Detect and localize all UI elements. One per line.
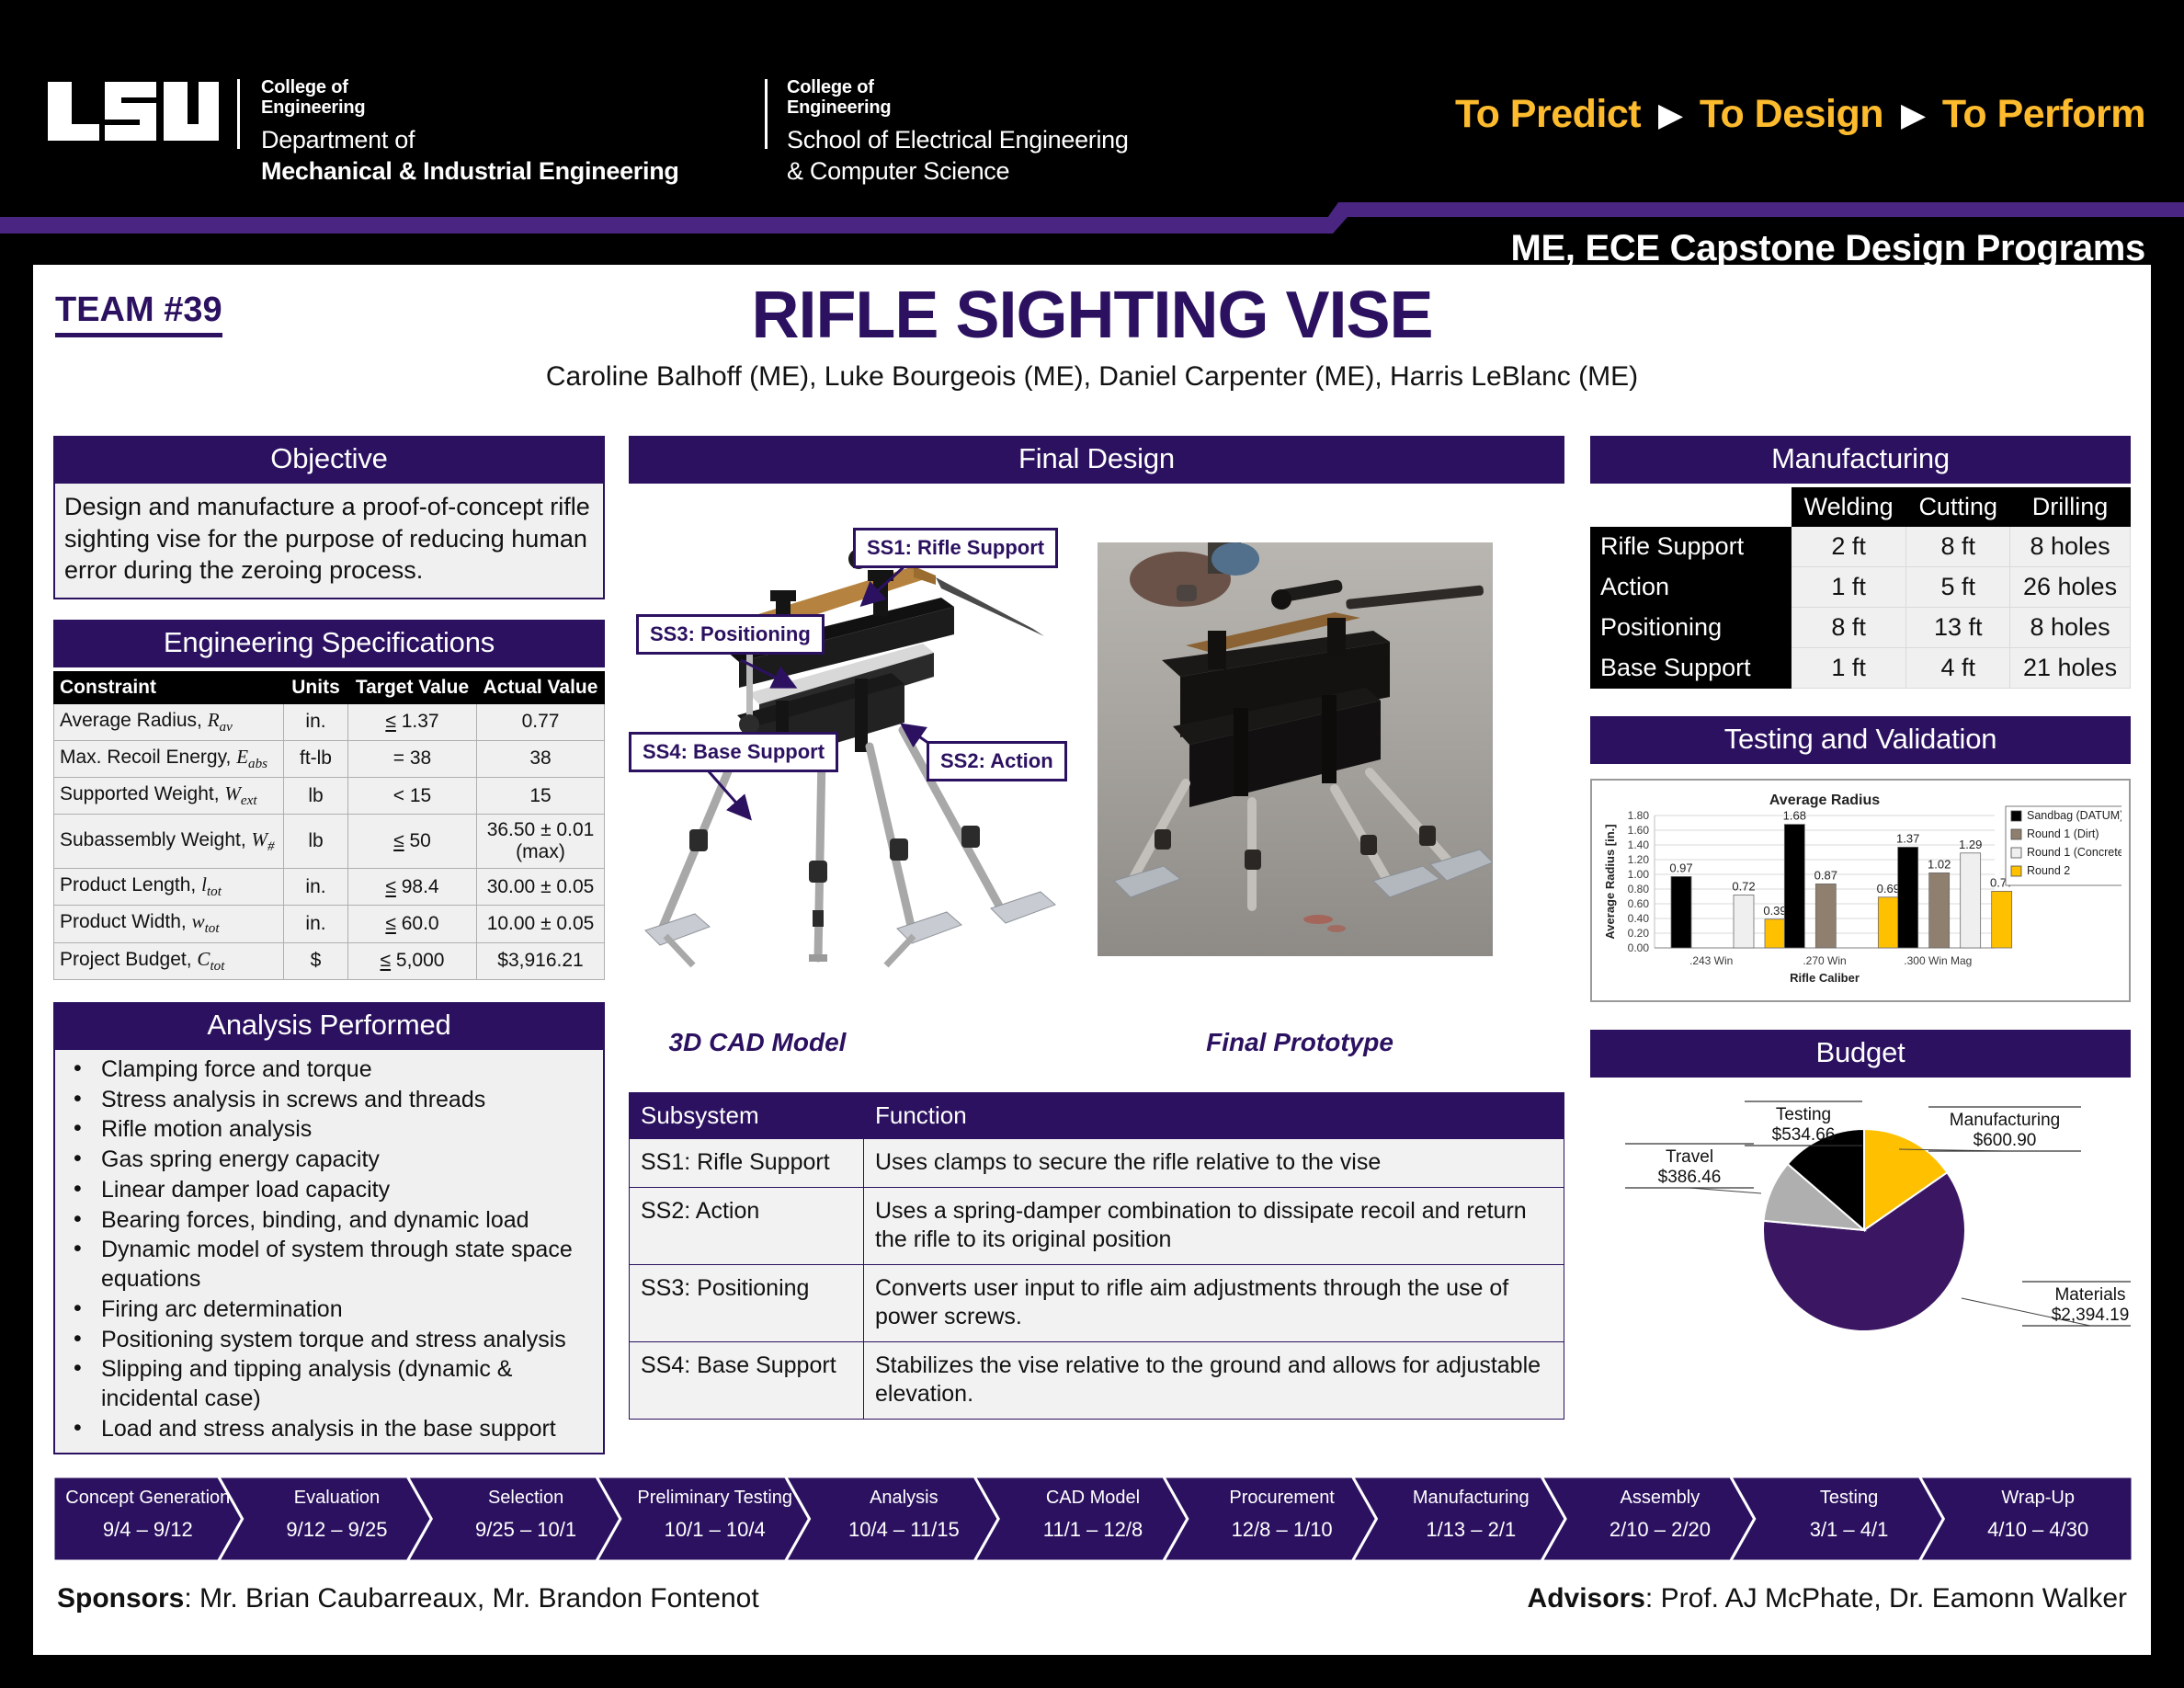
table-row: SS4: Base SupportStabilizes the vise rel… <box>630 1341 1564 1419</box>
spec-units: in. <box>284 906 348 942</box>
manufacturing-cutting: 5 ft <box>1906 567 2010 608</box>
svg-text:Testing: Testing <box>1776 1105 1831 1124</box>
budget-heading: Budget <box>1590 1030 2131 1078</box>
table-row: Rifle Support2 ft8 ft8 holes <box>1591 527 2131 567</box>
spec-actual: 10.00 ± 0.05 <box>477 906 605 942</box>
subsystem-name: SS4: Base Support <box>630 1341 864 1419</box>
program-line: ME, ECE Capstone Design Programs <box>1510 228 2145 269</box>
subsystem-function: Stabilizes the vise relative to the grou… <box>864 1341 1564 1419</box>
spec-units: $ <box>284 942 348 979</box>
average-radius-chart: Average Radius0.000.200.400.600.801.001.… <box>1590 779 2131 1002</box>
poster-header: College of Engineering Department of Mec… <box>0 26 2184 222</box>
timeline-step-dates: 9/12 – 9/25 <box>243 1519 432 1541</box>
timeline-step: Concept Generation9/4 – 9/12 <box>53 1488 243 1541</box>
author-list: Caroline Balhoff (ME), Luke Bourgeois (M… <box>33 361 2151 393</box>
col-constraint: Constraint <box>54 671 284 703</box>
list-item: Dynamic model of system through state sp… <box>61 1236 596 1295</box>
spec-units: in. <box>284 703 348 740</box>
col-subsystem: Subsystem <box>630 1093 864 1139</box>
subsystem-table: Subsystem Function SS1: Rifle SupportUse… <box>629 1092 1564 1420</box>
spec-actual: 0.77 <box>477 703 605 740</box>
svg-text:1.20: 1.20 <box>1628 853 1650 866</box>
timeline-step: Assembly2/10 – 2/20 <box>1565 1488 1755 1541</box>
objective-text: Design and manufacture a proof-of-concep… <box>53 484 605 599</box>
spec-target: ≤ 98.4 <box>348 869 477 906</box>
timeline-step-label: Preliminary Testing <box>620 1488 810 1508</box>
manufacturing-cutting: 8 ft <box>1906 527 2010 567</box>
final-design-heading: Final Design <box>629 436 1564 484</box>
logo-divider-1 <box>237 79 240 149</box>
svg-text:$386.46: $386.46 <box>1658 1168 1722 1187</box>
list-item: Firing arc determination <box>61 1295 596 1325</box>
manufacturing-drilling: 8 holes <box>2010 527 2131 567</box>
svg-text:.300 Win Mag: .300 Win Mag <box>1904 954 1972 967</box>
specifications-section: Engineering Specifications Constraint Un… <box>53 620 605 980</box>
spec-units: ft-lb <box>284 740 348 777</box>
purple-rule <box>0 217 1333 234</box>
manufacturing-welding: 1 ft <box>1792 648 1906 689</box>
timeline-step-dates: 4/10 – 4/30 <box>1943 1519 2133 1541</box>
unit-electrical: College of Engineering School of Electri… <box>787 77 1129 187</box>
svg-text:0.39: 0.39 <box>1763 904 1786 918</box>
svg-text:1.40: 1.40 <box>1628 838 1650 851</box>
unit1-line2: Engineering <box>261 97 679 118</box>
spec-target: ≤ 1.37 <box>348 703 477 740</box>
svg-text:.243 Win: .243 Win <box>1689 954 1733 967</box>
budget-section: Budget Manufacturing$600.90Materials$2,3… <box>1590 1030 2131 1347</box>
svg-text:1.37: 1.37 <box>1896 831 1919 845</box>
list-item: Slipping and tipping analysis (dynamic &… <box>61 1355 596 1414</box>
spec-actual: $3,916.21 <box>477 942 605 979</box>
unit1-line4: Mechanical & Industrial Engineering <box>261 156 679 186</box>
caption-prototype: Final Prototype <box>1107 1028 1493 1057</box>
svg-text:0.87: 0.87 <box>1814 868 1837 882</box>
timeline-step-dates: 1/13 – 2/1 <box>1376 1519 1565 1541</box>
svg-text:0.60: 0.60 <box>1628 897 1650 910</box>
timeline-step: CAD Model11/1 – 12/8 <box>998 1488 1188 1541</box>
svg-text:0.80: 0.80 <box>1628 883 1650 895</box>
table-header-row: Welding Cutting Drilling <box>1591 488 2131 527</box>
team-number: TEAM #39 <box>55 291 222 337</box>
svg-text:$2,394.19: $2,394.19 <box>2052 1306 2130 1325</box>
svg-text:Materials: Materials <box>2054 1285 2125 1305</box>
col-part <box>1591 488 1792 527</box>
svg-text:Average Radius: Average Radius <box>1769 793 1880 808</box>
unit-mechanical: College of Engineering Department of Mec… <box>261 77 679 187</box>
table-row: SS3: PositioningConverts user input to r… <box>630 1264 1564 1341</box>
left-column: Objective Design and manufacture a proof… <box>53 436 605 1454</box>
tagline-design: To Design <box>1700 92 1883 136</box>
timeline-step-dates: 10/4 – 11/15 <box>810 1519 999 1541</box>
spec-constraint: Max. Recoil Energy, Eabs <box>54 740 284 777</box>
sponsors-line: Sponsors: Mr. Brian Caubarreaux, Mr. Bra… <box>57 1583 759 1614</box>
timeline-step-label: Analysis <box>810 1488 999 1508</box>
unit2-line1: College of <box>787 77 1129 97</box>
col-target: Target Value <box>348 671 477 703</box>
list-item: Bearing forces, binding, and dynamic loa… <box>61 1206 596 1236</box>
callout-ss1: SS1: Rifle Support <box>853 528 1058 568</box>
svg-text:Travel: Travel <box>1666 1147 1713 1167</box>
col-cutting: Cutting <box>1906 488 2010 527</box>
list-item: Load and stress analysis in the base sup… <box>61 1415 596 1444</box>
timeline-step-label: Testing <box>1755 1488 1944 1508</box>
svg-text:0.97: 0.97 <box>1669 861 1692 874</box>
spec-constraint: Supported Weight, Wext <box>54 778 284 815</box>
spec-units: lb <box>284 778 348 815</box>
middle-column: Final Design <box>629 436 1564 1420</box>
timeline-step-dates: 11/1 – 12/8 <box>998 1519 1188 1541</box>
svg-text:0.20: 0.20 <box>1628 927 1650 940</box>
spec-units: in. <box>284 869 348 906</box>
timeline-step-label: Procurement <box>1188 1488 1377 1508</box>
spec-actual: 36.50 ± 0.01(max) <box>477 815 605 869</box>
spec-actual: 38 <box>477 740 605 777</box>
logo-divider-2 <box>765 79 768 149</box>
timeline-step-dates: 2/10 – 2/20 <box>1565 1519 1755 1541</box>
table-row: Max. Recoil Energy, Eabsft-lb= 3838 <box>54 740 605 777</box>
table-row: SS1: Rifle SupportUses clamps to secure … <box>630 1139 1564 1188</box>
col-function: Function <box>864 1093 1564 1139</box>
svg-text:Round 1 (Concrete): Round 1 (Concrete) <box>2027 846 2121 859</box>
svg-text:0.69: 0.69 <box>1877 882 1900 895</box>
table-row: Average Radius, Ravin.≤ 1.370.77 <box>54 703 605 740</box>
timeline-step: Preliminary Testing10/1 – 10/4 <box>620 1488 810 1541</box>
list-item: Clamping force and torque <box>61 1055 596 1085</box>
manufacturing-drilling: 26 holes <box>2010 567 2131 608</box>
list-item: Rifle motion analysis <box>61 1115 596 1145</box>
subsystem-name: SS3: Positioning <box>630 1264 864 1341</box>
analysis-section: Analysis Performed Clamping force and to… <box>53 1002 605 1454</box>
testing-heading: Testing and Validation <box>1590 716 2131 764</box>
project-timeline: Concept Generation9/4 – 9/12Evaluation9/… <box>53 1477 2133 1561</box>
spec-constraint: Project Budget, Ctot <box>54 942 284 979</box>
callout-ss3: SS3: Positioning <box>636 614 825 655</box>
timeline-step: Analysis10/4 – 11/15 <box>810 1488 999 1541</box>
advisors-label: Advisors <box>1528 1583 1645 1614</box>
col-units: Units <box>284 671 348 703</box>
manufacturing-table: Welding Cutting Drilling Rifle Support2 … <box>1590 487 2131 689</box>
spec-constraint: Product Width, wtot <box>54 906 284 942</box>
svg-text:0.40: 0.40 <box>1628 912 1650 925</box>
manufacturing-part: Action <box>1591 567 1792 608</box>
svg-text:$600.90: $600.90 <box>1974 1131 2037 1150</box>
list-item: Gas spring energy capacity <box>61 1146 596 1175</box>
analysis-heading: Analysis Performed <box>53 1002 605 1050</box>
timeline-step: Evaluation9/12 – 9/25 <box>243 1488 432 1541</box>
spec-target: = 38 <box>348 740 477 777</box>
lsu-logo <box>44 76 219 146</box>
unit2-line4: & Computer Science <box>787 156 1129 186</box>
spec-actual: 30.00 ± 0.05 <box>477 869 605 906</box>
specifications-table: Constraint Units Target Value Actual Val… <box>53 671 605 980</box>
timeline-step-label: Assembly <box>1565 1488 1755 1508</box>
right-column: Manufacturing Welding Cutting Drilling R… <box>1590 436 2131 1347</box>
objective-heading: Objective <box>53 436 605 484</box>
svg-text:Sandbag (DATUM): Sandbag (DATUM) <box>2027 809 2121 822</box>
svg-text:.270 Win: .270 Win <box>1803 954 1846 967</box>
manufacturing-welding: 1 ft <box>1792 567 1906 608</box>
table-row: Product Width, wtotin.≤ 60.010.00 ± 0.05 <box>54 906 605 942</box>
table-row: Base Support1 ft4 ft21 holes <box>1591 648 2131 689</box>
final-design-stage: SS1: Rifle Support SS3: Positioning SS2:… <box>629 485 1564 1028</box>
poster-root: College of Engineering Department of Mec… <box>0 0 2184 1688</box>
triangle-right-icon-2: ▶ <box>1901 97 1924 132</box>
svg-text:1.02: 1.02 <box>1928 857 1951 871</box>
manufacturing-cutting: 13 ft <box>1906 608 2010 648</box>
unit1-line1: College of <box>261 77 679 97</box>
tagline: To Predict ▶ To Design ▶ To Perform <box>1455 92 2145 137</box>
timeline-step-dates: 9/25 – 10/1 <box>431 1519 620 1541</box>
list-item: Stress analysis in screws and threads <box>61 1086 596 1115</box>
manufacturing-part: Rifle Support <box>1591 527 1792 567</box>
list-item: Linear damper load capacity <box>61 1176 596 1205</box>
spec-actual: 15 <box>477 778 605 815</box>
table-row: SS2: ActionUses a spring-damper combinat… <box>630 1187 1564 1264</box>
svg-text:1.80: 1.80 <box>1628 809 1650 822</box>
timeline-step-label: Concept Generation <box>53 1488 243 1508</box>
svg-text:1.60: 1.60 <box>1628 824 1650 837</box>
spec-target: ≤ 5,000 <box>348 942 477 979</box>
subsystem-function: Converts user input to rifle aim adjustm… <box>864 1264 1564 1341</box>
spec-constraint: Subassembly Weight, W# <box>54 815 284 869</box>
svg-text:Average Radius [in.]: Average Radius [in.] <box>1603 824 1617 939</box>
svg-text:1.00: 1.00 <box>1628 868 1650 881</box>
col-drilling: Drilling <box>2010 488 2131 527</box>
table-row: Supported Weight, Wextlb< 1515 <box>54 778 605 815</box>
timeline-step-dates: 10/1 – 10/4 <box>620 1519 810 1541</box>
timeline-step-dates: 9/4 – 9/12 <box>53 1519 243 1541</box>
svg-text:1.68: 1.68 <box>1783 809 1806 823</box>
page-title: RIFLE SIGHTING VISE <box>33 278 2151 353</box>
sponsors-value: : Mr. Brian Caubarreaux, Mr. Brandon Fon… <box>184 1583 758 1614</box>
poster-body: RIFLE SIGHTING VISE TEAM #39 Caroline Ba… <box>33 265 2151 1655</box>
svg-text:Manufacturing: Manufacturing <box>1950 1111 2060 1130</box>
spec-target: ≤ 60.0 <box>348 906 477 942</box>
manufacturing-cutting: 4 ft <box>1906 648 2010 689</box>
specifications-heading: Engineering Specifications <box>53 620 605 667</box>
manufacturing-drilling: 8 holes <box>2010 608 2131 648</box>
testing-section: Testing and Validation Average Radius0.0… <box>1590 716 2131 1002</box>
list-item: Positioning system torque and stress ana… <box>61 1326 596 1355</box>
spec-constraint: Average Radius, Rav <box>54 703 284 740</box>
spec-target: ≤ 50 <box>348 815 477 869</box>
manufacturing-part: Positioning <box>1591 608 1792 648</box>
advisors-value: : Prof. AJ McPhate, Dr. Eamonn Walker <box>1645 1583 2127 1614</box>
callout-ss4: SS4: Base Support <box>629 732 838 772</box>
subsystem-name: SS2: Action <box>630 1187 864 1264</box>
timeline-step: Testing3/1 – 4/1 <box>1755 1488 1944 1541</box>
svg-text:0.00: 0.00 <box>1628 941 1650 954</box>
manufacturing-part: Base Support <box>1591 648 1792 689</box>
budget-pie-chart: Manufacturing$600.90Materials$2,394.19Tr… <box>1590 1085 2131 1347</box>
svg-text:$534.66: $534.66 <box>1772 1125 1836 1145</box>
subsystem-function: Uses a spring-damper combination to diss… <box>864 1187 1564 1264</box>
tagline-predict: To Predict <box>1455 92 1641 136</box>
svg-text:1.29: 1.29 <box>1959 838 1982 851</box>
timeline-step: Wrap-Up4/10 – 4/30 <box>1943 1488 2133 1541</box>
table-row: Project Budget, Ctot$≤ 5,000$3,916.21 <box>54 942 605 979</box>
callout-ss2: SS2: Action <box>927 741 1067 781</box>
timeline-step-label: Evaluation <box>243 1488 432 1508</box>
timeline-step: Manufacturing1/13 – 2/1 <box>1376 1488 1565 1541</box>
table-row: Subassembly Weight, W#lb≤ 5036.50 ± 0.01… <box>54 815 605 869</box>
spec-units: lb <box>284 815 348 869</box>
col-welding: Welding <box>1792 488 1906 527</box>
table-header-row: Subsystem Function <box>630 1093 1564 1139</box>
triangle-right-icon: ▶ <box>1659 97 1682 132</box>
timeline-step-label: CAD Model <box>998 1488 1188 1508</box>
manufacturing-heading: Manufacturing <box>1590 436 2131 484</box>
manufacturing-drilling: 21 holes <box>2010 648 2131 689</box>
svg-text:Round 2: Round 2 <box>2027 864 2070 877</box>
sponsors-label: Sponsors <box>57 1583 184 1614</box>
table-row: Product Length, ltotin.≤ 98.430.00 ± 0.0… <box>54 869 605 906</box>
manufacturing-welding: 2 ft <box>1792 527 1906 567</box>
timeline-step: Selection9/25 – 10/1 <box>431 1488 620 1541</box>
unit2-line2: Engineering <box>787 97 1129 118</box>
svg-text:Rifle Caliber: Rifle Caliber <box>1790 971 1860 985</box>
timeline-step: Procurement12/8 – 1/10 <box>1188 1488 1377 1541</box>
table-header-row: Constraint Units Target Value Actual Val… <box>54 671 605 703</box>
advisors-line: Advisors: Prof. AJ McPhate, Dr. Eamonn W… <box>1528 1583 2127 1614</box>
subsystem-function: Uses clamps to secure the rifle relative… <box>864 1139 1564 1188</box>
analysis-body: Clamping force and torqueStress analysis… <box>53 1050 605 1454</box>
timeline-step-dates: 3/1 – 4/1 <box>1755 1519 1944 1541</box>
timeline-step-label: Wrap-Up <box>1943 1488 2133 1508</box>
svg-text:0.72: 0.72 <box>1732 879 1755 893</box>
caption-cad: 3D CAD Model <box>638 1028 877 1057</box>
table-row: Action1 ft5 ft26 holes <box>1591 567 2131 608</box>
spec-target: < 15 <box>348 778 477 815</box>
table-row: Positioning8 ft13 ft8 holes <box>1591 608 2131 648</box>
subsystem-name: SS1: Rifle Support <box>630 1139 864 1188</box>
timeline-step-label: Manufacturing <box>1376 1488 1565 1508</box>
timeline-step-dates: 12/8 – 1/10 <box>1188 1519 1377 1541</box>
manufacturing-welding: 8 ft <box>1792 608 1906 648</box>
tagline-perform: To Perform <box>1942 92 2145 136</box>
svg-text:Round 1 (Dirt): Round 1 (Dirt) <box>2027 827 2099 840</box>
col-actual: Actual Value <box>477 671 605 703</box>
timeline-step-label: Selection <box>431 1488 620 1508</box>
spec-constraint: Product Length, ltot <box>54 869 284 906</box>
unit2-line3: School of Electrical Engineering <box>787 125 1129 154</box>
unit1-line3: Department of <box>261 125 679 154</box>
